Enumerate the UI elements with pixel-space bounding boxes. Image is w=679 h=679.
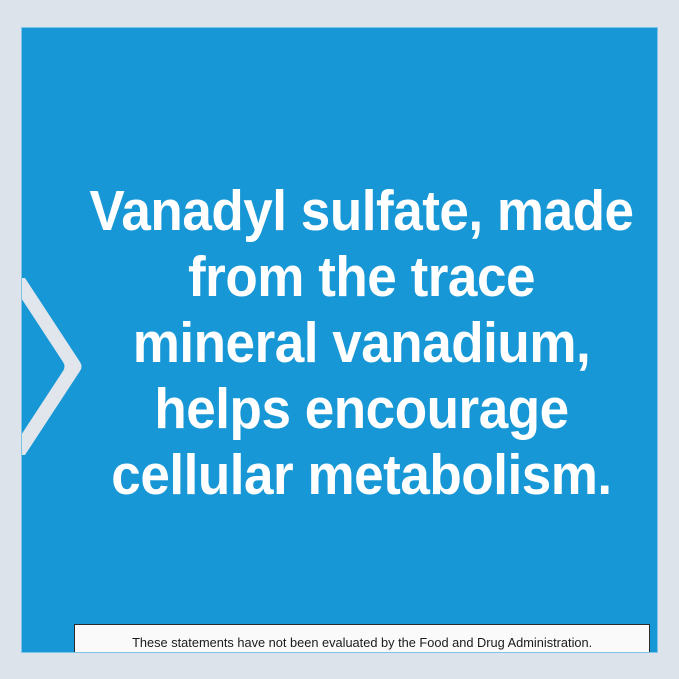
disclaimer-line-1: These statements have not been evaluated… [132,633,592,652]
product-claim-card: Vanadyl sulfate, made from the trace min… [21,27,658,653]
headline-text-block: Vanadyl sulfate, made from the trace min… [65,178,657,508]
image-canvas: Vanadyl sulfate, made from the trace min… [0,0,679,679]
headline-line-3: mineral vanadium, [65,310,657,376]
disclaimer-line-2: This product is not intended to diagnose… [146,652,578,653]
headline-line-2: from the trace [65,244,657,310]
headline-line-1: Vanadyl sulfate, made [65,178,657,244]
headline-line-5: cellular metabolism. [65,442,657,508]
fda-disclaimer-box: These statements have not been evaluated… [74,624,650,653]
headline-line-4: helps encourage [65,376,657,442]
